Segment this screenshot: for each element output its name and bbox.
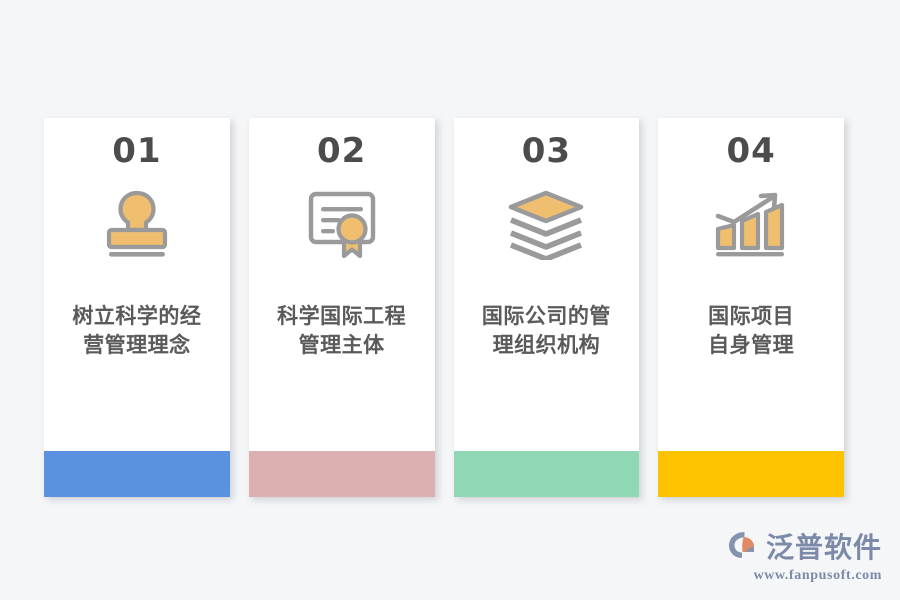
card-02[interactable]: 02 科学国际工程 管理主体 (249, 118, 435, 497)
card-accent-bar (249, 451, 435, 497)
card-accent-bar (44, 451, 230, 497)
card-accent-bar (658, 451, 844, 497)
card-title-line-1: 国际公司的管 (461, 302, 631, 331)
card-title-line-2: 自身管理 (666, 331, 836, 360)
bar-chart-growth-icon (701, 184, 801, 264)
card-title: 国际公司的管 理组织机构 (461, 302, 631, 360)
brand-watermark: 泛普软件 www.fanpusoft.com (727, 530, 882, 584)
card-title-line-2: 管理主体 (257, 331, 427, 360)
brand-top-row: 泛普软件 (727, 530, 882, 565)
brand-name: 泛普软件 (766, 534, 882, 562)
fanpu-swoosh-logo-icon (727, 530, 761, 565)
card-number: 03 (522, 134, 571, 168)
card-title-line-1: 国际项目 (666, 302, 836, 331)
card-title-line-1: 科学国际工程 (257, 302, 427, 331)
card-accent-bar (454, 451, 640, 497)
card-title: 科学国际工程 管理主体 (257, 302, 427, 360)
card-number: 02 (317, 134, 366, 168)
infographic-canvas: 01 树立科学的经 营管理理念 02 (0, 0, 900, 600)
cards-row: 01 树立科学的经 营管理理念 02 (44, 118, 844, 498)
certificate-icon (292, 184, 392, 264)
card-number: 04 (726, 134, 775, 168)
card-04[interactable]: 04 国际项目 自身管理 (658, 118, 844, 497)
layers-icon (496, 184, 596, 264)
card-title-line-2: 理组织机构 (461, 331, 631, 360)
stamp-icon (87, 184, 187, 264)
card-title-line-1: 树立科学的经 (52, 302, 222, 331)
card-number: 01 (112, 134, 161, 168)
brand-url: www.fanpusoft.com (754, 568, 882, 584)
card-title-line-2: 营管理理念 (52, 331, 222, 360)
card-title: 树立科学的经 营管理理念 (52, 302, 222, 360)
card-03[interactable]: 03 国际公司的管 理组织机构 (454, 118, 640, 497)
card-title: 国际项目 自身管理 (666, 302, 836, 360)
card-01[interactable]: 01 树立科学的经 营管理理念 (44, 118, 230, 497)
